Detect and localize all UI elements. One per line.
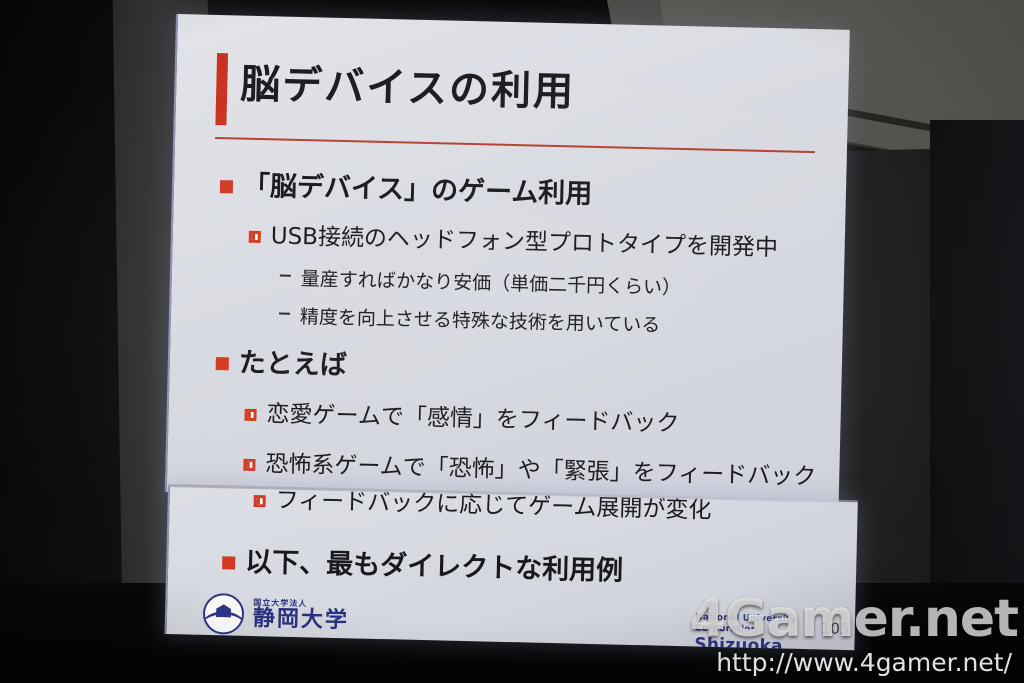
bullet-marker-outline-square-icon bbox=[249, 230, 261, 242]
screen-panel-upper: 脳デバイスの利用 「脳デバイス」のゲーム利用 USB接続のヘッドフォン型プロトタ… bbox=[165, 14, 850, 508]
bullet-item: 以下、最もダイレクトな利用例 bbox=[222, 539, 624, 587]
presentation-photo: 脳デバイスの利用 「脳デバイス」のゲーム利用 USB接続のヘッドフォン型プロトタ… bbox=[0, 0, 1024, 683]
university-crest-icon bbox=[203, 593, 245, 635]
bullet-marker-square-icon bbox=[216, 357, 229, 370]
bullet-marker-dash-icon bbox=[280, 274, 291, 276]
slide-surface-upper: 脳デバイスの利用 「脳デバイス」のゲーム利用 USB接続のヘッドフォン型プロトタ… bbox=[165, 14, 850, 508]
bullet-item: 恐怖系ゲームで「恐怖」や「緊張」をフィードバック bbox=[243, 444, 817, 491]
bullet-item: 量産すればかなり安価（単価二千円くらい） bbox=[280, 264, 682, 300]
bullet-item: USB接続のヘッドフォン型プロトタイプを開発中 bbox=[248, 216, 778, 262]
bullet-text: USB接続のヘッドフォン型プロトタイプを開発中 bbox=[270, 223, 778, 261]
bullet-item: 「脳デバイス」のゲーム利用 bbox=[220, 163, 593, 211]
slide-title: 脳デバイスの利用 bbox=[240, 52, 576, 118]
bullet-text: たとえば bbox=[238, 348, 347, 382]
projection-screen: 脳デバイスの利用 「脳デバイス」のゲーム利用 USB接続のヘッドフォン型プロトタ… bbox=[0, 0, 1024, 683]
shizuoka-university-logo-jp: 国立大学法人 静岡大学 bbox=[203, 593, 350, 637]
bullet-item: 恋愛ゲームで「感情」をフィードバック bbox=[244, 394, 680, 438]
logo-jp-title: 静岡大学 bbox=[253, 607, 350, 632]
bullet-text: 量産すればかなり安価（単価二千円くらい） bbox=[301, 268, 682, 299]
bullet-text: 恋愛ゲームで「感情」をフィードバック bbox=[266, 401, 679, 437]
bullet-marker-outline-square-icon bbox=[244, 408, 256, 420]
watermark-url: http://www.4gamer.net/ bbox=[716, 648, 1012, 677]
bullet-text: 恐怖系ゲームで「恐怖」や「緊張」をフィードバック bbox=[265, 451, 816, 490]
title-underline bbox=[215, 137, 815, 153]
bullet-item: 精度を向上させる特殊な技術を用いている bbox=[279, 302, 661, 338]
bullet-marker-square-icon bbox=[220, 180, 233, 193]
bullet-marker-outline-square-icon bbox=[254, 495, 266, 507]
watermark-brand: 4Gamer.net bbox=[689, 593, 1018, 645]
title-accent-bar bbox=[215, 53, 228, 125]
bullet-item: たとえば bbox=[215, 340, 347, 382]
bullet-marker-dash-icon bbox=[279, 312, 290, 314]
bullet-marker-outline-square-icon bbox=[243, 458, 255, 470]
bullet-text: 精度を向上させる特殊な技術を用いている bbox=[300, 306, 661, 336]
bullet-text: 以下、最もダイレクトな利用例 bbox=[245, 547, 624, 587]
bullet-marker-square-icon bbox=[222, 556, 235, 569]
bullet-text: 「脳デバイス」のゲーム利用 bbox=[243, 171, 593, 210]
